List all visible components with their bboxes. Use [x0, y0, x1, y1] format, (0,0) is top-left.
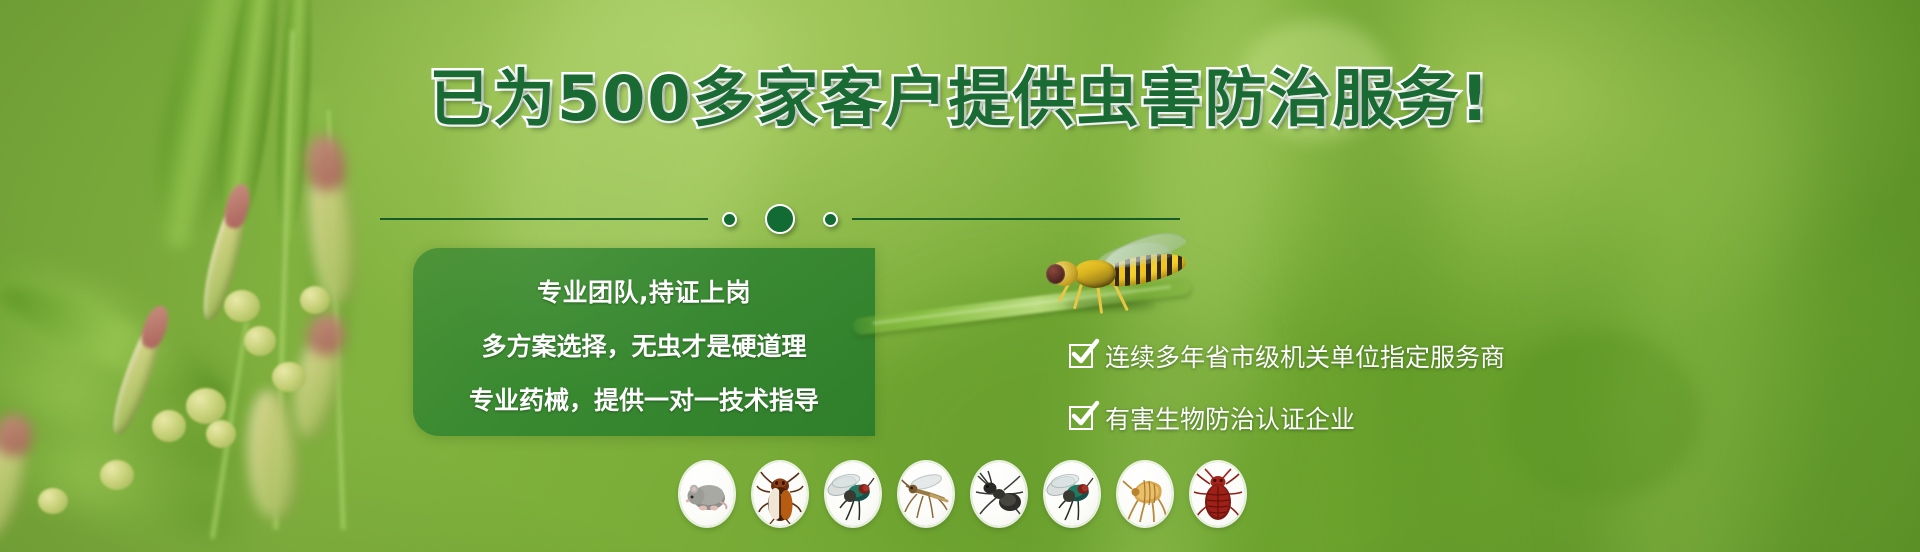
banner-headline: 已为500多家客户提供虫害防治服务! [0, 68, 1920, 130]
banner-headline-text: 已为500多家客户提供虫害防治服务! [429, 62, 1491, 135]
checkbox-check-icon [1069, 406, 1093, 430]
hoverfly-on-leaf-illustration [1020, 238, 1230, 346]
bullet-label: 有害生物防治认证企业 [1105, 400, 1355, 436]
divider-line-left [380, 218, 708, 220]
ant-icon[interactable] [972, 462, 1026, 526]
selling-point-line-1: 专业团队,持证上岗 [423, 273, 865, 309]
selling-point-line-2: 多方案选择，无虫才是硬道理 [423, 327, 865, 363]
divider-dot-small-right [823, 212, 838, 227]
fly-icon[interactable] [826, 462, 880, 526]
flea-icon[interactable] [1118, 462, 1172, 526]
divider-dot-large [765, 204, 795, 234]
certification-bullets: 连续多年省市级机关单位指定服务商 有害生物防治认证企业 [1069, 338, 1589, 462]
mosquito-icon[interactable] [899, 462, 953, 526]
divider-line-right [852, 218, 1180, 220]
selling-point-line-3: 专业药械，提供一对一技术指导 [423, 381, 865, 417]
rodent-icon[interactable] [680, 462, 734, 526]
bullet-item: 有害生物防治认证企业 [1069, 400, 1589, 436]
pest-control-banner: 已为500多家客户提供虫害防治服务! 专业团队,持证上岗 多方案选择，无虫才是硬… [0, 0, 1920, 552]
selling-points-panel: 专业团队,持证上岗 多方案选择，无虫才是硬道理 专业药械，提供一对一技术指导 [413, 248, 875, 436]
hoverfly-icon [1038, 242, 1188, 310]
divider-dot-small-left [722, 212, 737, 227]
cockroach-icon[interactable] [753, 462, 807, 526]
pest-type-icon-row [680, 462, 1245, 526]
bullet-item: 连续多年省市级机关单位指定服务商 [1069, 338, 1589, 374]
fly-icon[interactable] [1045, 462, 1099, 526]
decorative-divider [380, 208, 1180, 230]
bedbug-icon[interactable] [1191, 462, 1245, 526]
checkbox-check-icon [1069, 344, 1093, 368]
bullet-label: 连续多年省市级机关单位指定服务商 [1105, 338, 1505, 374]
